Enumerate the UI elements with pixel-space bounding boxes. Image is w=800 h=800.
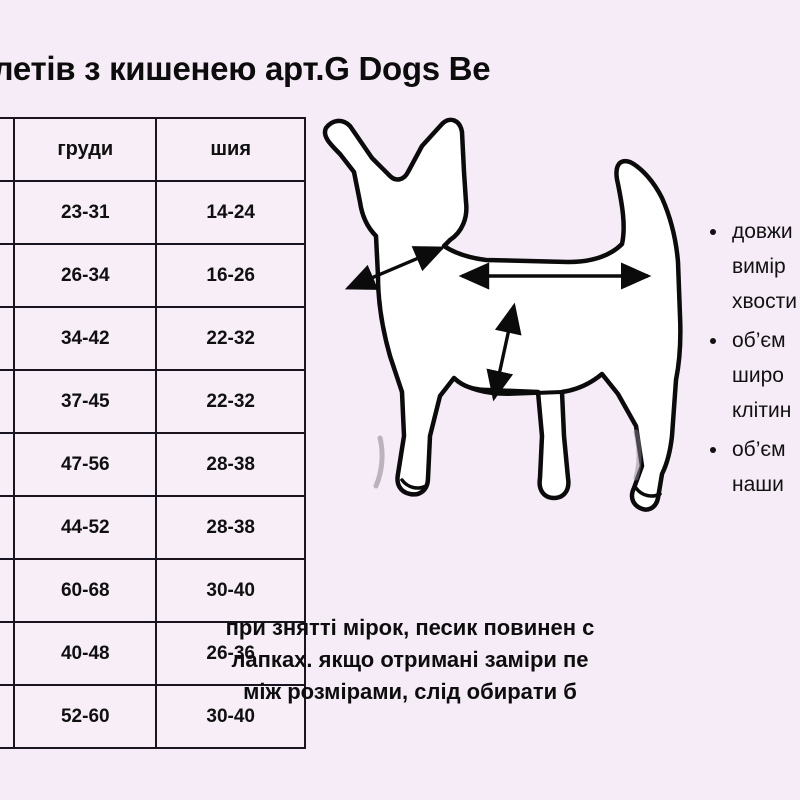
- list-item: об’єм широ клітин: [706, 323, 800, 428]
- cell-chest: 26-34: [14, 244, 156, 307]
- table-row: 37-45 22-32: [0, 370, 305, 433]
- cell-neck: 28-38: [156, 496, 305, 559]
- size-chart-canvas: іри жилетів з кишенею арт.G Dogs Be а гр…: [0, 0, 800, 800]
- table-header-cell-3: шия: [156, 118, 305, 181]
- cell-neck: 22-32: [156, 370, 305, 433]
- cell-chest: 47-56: [14, 433, 156, 496]
- note-line-2: лапках. якщо отримані заміри пе: [0, 644, 800, 676]
- note-line-3: між розмірами, слід обирати б: [0, 676, 800, 708]
- dog-body-outline: [325, 120, 680, 510]
- table-row: 34-42 22-32: [0, 307, 305, 370]
- cell-chest: 34-42: [14, 307, 156, 370]
- cell-length: [0, 181, 14, 244]
- table-header-row: а груди шия: [0, 118, 305, 181]
- cell-length: [0, 307, 14, 370]
- cell-length: [0, 496, 14, 559]
- list-item: довжи вимір хвости: [706, 214, 800, 319]
- table-row: 44-52 28-38: [0, 496, 305, 559]
- cell-neck: 14-24: [156, 181, 305, 244]
- cell-length: [0, 370, 14, 433]
- table-row: 47-56 28-38: [0, 433, 305, 496]
- dog-leg-shading: [376, 438, 382, 486]
- measurement-instructions-list: довжи вимір хвости об’єм широ клітин об’…: [706, 214, 800, 506]
- cell-chest: 44-52: [14, 496, 156, 559]
- bottom-note: при знятті мірок, песик повинен с лапках…: [0, 612, 800, 708]
- dog-illustration: [318, 106, 718, 546]
- cell-neck: 22-32: [156, 307, 305, 370]
- cell-chest: 37-45: [14, 370, 156, 433]
- cell-length: [0, 433, 14, 496]
- cell-neck: 16-26: [156, 244, 305, 307]
- cell-length: [0, 244, 14, 307]
- table-row: 23-31 14-24: [0, 181, 305, 244]
- table-header-cell-1: а: [0, 118, 14, 181]
- table-header-cell-2: груди: [14, 118, 156, 181]
- dog-rear-leg-shading: [636, 432, 639, 478]
- note-line-1: при знятті мірок, песик повинен с: [0, 612, 800, 644]
- cell-neck: 28-38: [156, 433, 305, 496]
- page-title: іри жилетів з кишенею арт.G Dogs Be: [0, 50, 800, 88]
- cell-chest: 23-31: [14, 181, 156, 244]
- list-item: об’єм наши: [706, 432, 800, 502]
- table-row: 26-34 16-26: [0, 244, 305, 307]
